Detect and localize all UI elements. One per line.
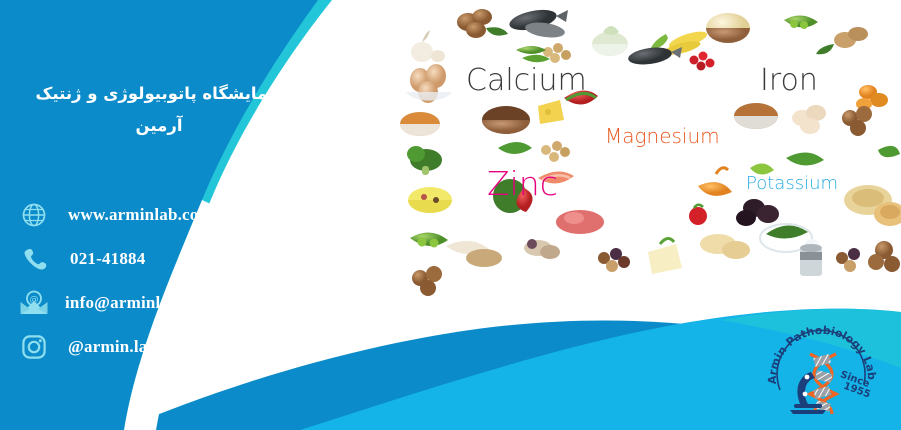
food-sauce-bowl [592, 26, 628, 56]
left-info-panel: آزمایشگاه پاتوبیولوژی و ژنتیک آرمین www.… [0, 0, 340, 430]
food-lentil-bowl [400, 112, 440, 136]
lab-logo: Armin Pathobiology Lab Since 1955 [766, 320, 878, 424]
food-cocoa-bowl [482, 106, 530, 134]
food-cheese-wedge [648, 238, 682, 274]
food-peas-top [784, 15, 818, 29]
food-quinoa-scoop [446, 241, 502, 267]
food-walnuts-left [412, 266, 442, 296]
mineral-label-iron: Iron [760, 63, 818, 98]
contact-row-email[interactable]: @ info@arminlab.com [14, 281, 334, 325]
food-chickpeas-inner [541, 141, 570, 162]
food-peas-left [410, 232, 448, 247]
lab-title: آزمایشگاه پاتوبیولوژی و ژنتیک آرمین [0, 78, 318, 142]
food-berries [690, 52, 715, 71]
food-tomato [689, 205, 707, 225]
mineral-label-potassium: Potassium [746, 173, 838, 194]
food-cereal-bowl [408, 187, 452, 213]
food-mushrooms [524, 239, 560, 259]
food-walnuts-bottom [868, 241, 900, 272]
contact-row-phone[interactable]: 021-41884 [14, 237, 334, 281]
phone-icon [14, 239, 54, 279]
food-peanut-bowl [734, 103, 778, 129]
website-text: www.arminlab.com [68, 205, 213, 225]
food-walnuts-right [842, 106, 872, 136]
instagram-text: @armin.lab [68, 337, 157, 357]
contact-row-website[interactable]: www.arminlab.com [14, 193, 334, 237]
mineral-label-magnesium: Magnesium [605, 124, 720, 148]
food-leafy-green-edge [878, 146, 900, 157]
promo-banner: Calcium Iron Magnesium Zinc Potassium آز… [0, 0, 901, 430]
food-eggs-right [792, 105, 826, 134]
food-broccoli [407, 146, 442, 175]
food-grain-bowl-top [706, 13, 750, 43]
food-apricots [856, 85, 888, 110]
food-carrot-squash [698, 168, 732, 196]
email-text: info@arminlab.com [65, 293, 214, 313]
lab-title-line2: آرمین [0, 110, 318, 142]
mineral-label-zinc: Zinc [487, 164, 558, 203]
svg-text:@: @ [30, 295, 39, 305]
food-eggs [406, 64, 452, 103]
contact-list: www.arminlab.com 021-41884 [14, 193, 334, 369]
instagram-icon [14, 327, 54, 367]
mineral-label-calcium: Calcium [466, 63, 587, 98]
food-pasta [700, 234, 750, 259]
globe-icon [14, 195, 54, 235]
food-minced-meat [556, 210, 604, 234]
lab-title-line1: آزمایشگاه پاتوبیولوژی و ژنتیک [0, 78, 318, 110]
food-beans-mix-right [836, 248, 860, 272]
food-potatoes [816, 27, 868, 54]
food-beans-mix [598, 248, 630, 272]
phone-text: 021-41884 [70, 249, 145, 269]
food-cheese [538, 100, 564, 124]
food-spinach [498, 142, 532, 154]
food-hazelnuts [457, 9, 508, 38]
contact-row-instagram[interactable]: @armin.lab [14, 325, 334, 369]
food-collage [398, 0, 901, 300]
envelope-icon: @ [14, 283, 54, 323]
food-canned-beans [800, 244, 822, 276]
food-prunes [736, 199, 779, 226]
food-fish [508, 6, 568, 40]
food-garlic [411, 30, 445, 62]
food-greens-right [786, 152, 824, 165]
